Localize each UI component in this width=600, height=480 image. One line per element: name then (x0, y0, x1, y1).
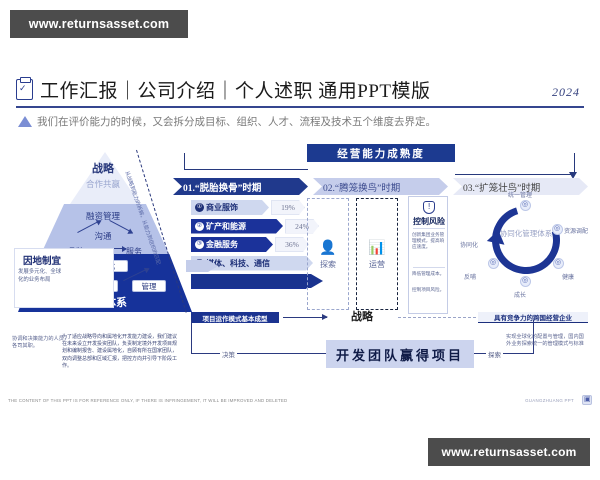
rank-label: 商业服饰 (206, 202, 238, 213)
maturity-banner: 经营能力成熟度 (307, 144, 455, 162)
footer-brand: GUANGZHUANG PPT (525, 398, 574, 403)
rank-percent: 19% (271, 200, 305, 215)
circle-node-label-1: 统一管理 (508, 190, 532, 199)
rank-row[interactable]: ②矿产和能源24% (191, 219, 315, 234)
watermark-bottom: www.returnsasset.com (428, 438, 590, 466)
flow-note-right: 实现全球化的配置与管理，国内国外业务探索统一的管理模式与标准 (506, 334, 586, 348)
triangle-bullet-icon (18, 116, 32, 127)
left-card-title: 因地制宜 (23, 253, 61, 267)
flow-connector-left (191, 320, 326, 354)
watermark-top: www.returnsasset.com (10, 10, 188, 38)
rank-row[interactable]: ①商业服饰19% (191, 200, 315, 215)
left-info-card: 因地制宜 发展多元化、全球化的业务布局 (14, 248, 114, 308)
flow-connector-label-right: 探索 (486, 349, 503, 359)
left-card-body: 发展多元化、全球化的业务布局 (18, 269, 62, 284)
circle-node-5[interactable] (488, 258, 499, 269)
header-divider (16, 106, 584, 108)
risk-bullet-3: 控制项目风险。 (412, 287, 447, 293)
circle-node-4[interactable] (520, 276, 531, 287)
circle-node-label-6: 协同化 (460, 240, 478, 249)
win-project-box: 开发团队赢得项目 (326, 340, 474, 368)
flow-arrow-left-icon (283, 317, 327, 318)
circle-node-label-5: 反哺 (464, 272, 476, 281)
subtitle-row: 我们在评价能力的时候，又会拆分成目标、组织、人才、流程及技术五个维度去界定。 (18, 114, 584, 130)
rank-row[interactable]: ③金融服务36% (191, 237, 315, 252)
risk-bullet-2: 降低管理成本。 (412, 271, 447, 277)
stage-box-operate[interactable]: 📊 运营 (356, 198, 398, 310)
shield-alert-icon (423, 201, 435, 214)
synergy-circle-diagram: 协同化管理体系 统一管理 资源调配 健康 成长 反哺 协同化 (468, 196, 586, 316)
risk-bullet-1: 创新集团业务管理模式，提高响应速度。 (412, 232, 447, 251)
logo-badge-icon (582, 395, 592, 405)
circle-node-3[interactable] (553, 258, 564, 269)
flow-dash-right (398, 317, 476, 318)
phase-chevron-1[interactable]: 01.“脱胎换骨”时期 (173, 178, 308, 195)
risk-control-card: 控制风险 创新集团业务管理模式，提高响应速度。 降低管理成本。 控制项目风险。 (408, 196, 448, 314)
slide-canvas: 工作汇报｜公司介绍｜个人述职 通用PPT模版 2024 我们在评价能力的时候，又… (8, 68, 592, 406)
circle-node-label-4: 成长 (514, 290, 526, 299)
year-label: 2024 (552, 85, 580, 100)
rank-number-badge: ① (195, 203, 204, 212)
flow-connector-label-left: 决策 (220, 349, 237, 359)
pyramid-winwin-label: 合作共赢 (18, 178, 188, 190)
stage-label-explore: 探索 (320, 259, 336, 270)
rank-number-badge: ③ (195, 240, 204, 249)
risk-divider-1 (413, 228, 445, 229)
rank-percent: 36% (275, 237, 309, 252)
slide-header: 工作汇报｜公司介绍｜个人述职 通用PPT模版 2024 (16, 76, 584, 110)
subtitle-text: 我们在评价能力的时候，又会拆分成目标、组织、人才、流程及技术五个维度去界定。 (37, 114, 436, 129)
phase-chevron-2[interactable]: 02.“腾笼换鸟”时期 (313, 178, 448, 195)
explore-person-icon: 👤 (319, 239, 336, 256)
rank-bar: ①商业服饰 (191, 200, 269, 215)
clipboard-check-icon (16, 79, 33, 100)
risk-divider-2 (413, 267, 445, 268)
page-title: 工作汇报｜公司介绍｜个人述职 通用PPT模版 (40, 76, 431, 103)
flow-mid-label: 战略 (332, 308, 392, 324)
rank-bar: ③金融服务 (191, 237, 273, 252)
bracket-right (455, 153, 575, 175)
stage-box-explore[interactable]: 👤 探索 (307, 198, 349, 310)
circle-center-label: 协同化管理体系 (498, 229, 554, 239)
flow-paragraph: 为了适应战略导向和属地化开发能力建设，我们建议在未来设立开发投资团队，负责制定境… (62, 334, 180, 370)
circle-node-2[interactable] (552, 224, 563, 235)
circle-node-label-2: 资源调配 (564, 226, 588, 235)
slide-page: www.returnsasset.com 工作汇报｜公司介绍｜个人述职 通用PP… (0, 0, 600, 480)
rank-label: 金融服务 (206, 239, 238, 250)
circle-node-1[interactable] (520, 200, 531, 211)
rank-number-badge: ② (195, 222, 204, 231)
circle-node-label-3: 健康 (562, 272, 574, 281)
pyramid-chip-manage[interactable]: 管理 (132, 280, 166, 292)
footer-disclaimer: THE CONTENT OF THIS PPT IS FOR REFERENCE… (8, 398, 428, 403)
risk-card-title: 控制风险 (409, 216, 449, 227)
rank-bar: ②矿产和能源 (191, 219, 283, 234)
stage-label-operate: 运营 (369, 259, 385, 270)
operate-chart-icon: 📊 (368, 239, 385, 256)
bracket-arrow-icon (569, 172, 577, 179)
bracket-left (184, 153, 308, 170)
rank-accent-arrow-dark (191, 274, 323, 288)
pyramid-strategy-label: 战略 (18, 160, 188, 176)
pyramid-finance-label: 融资管理 (18, 210, 188, 222)
rank-label: 矿产和能源 (206, 221, 246, 232)
